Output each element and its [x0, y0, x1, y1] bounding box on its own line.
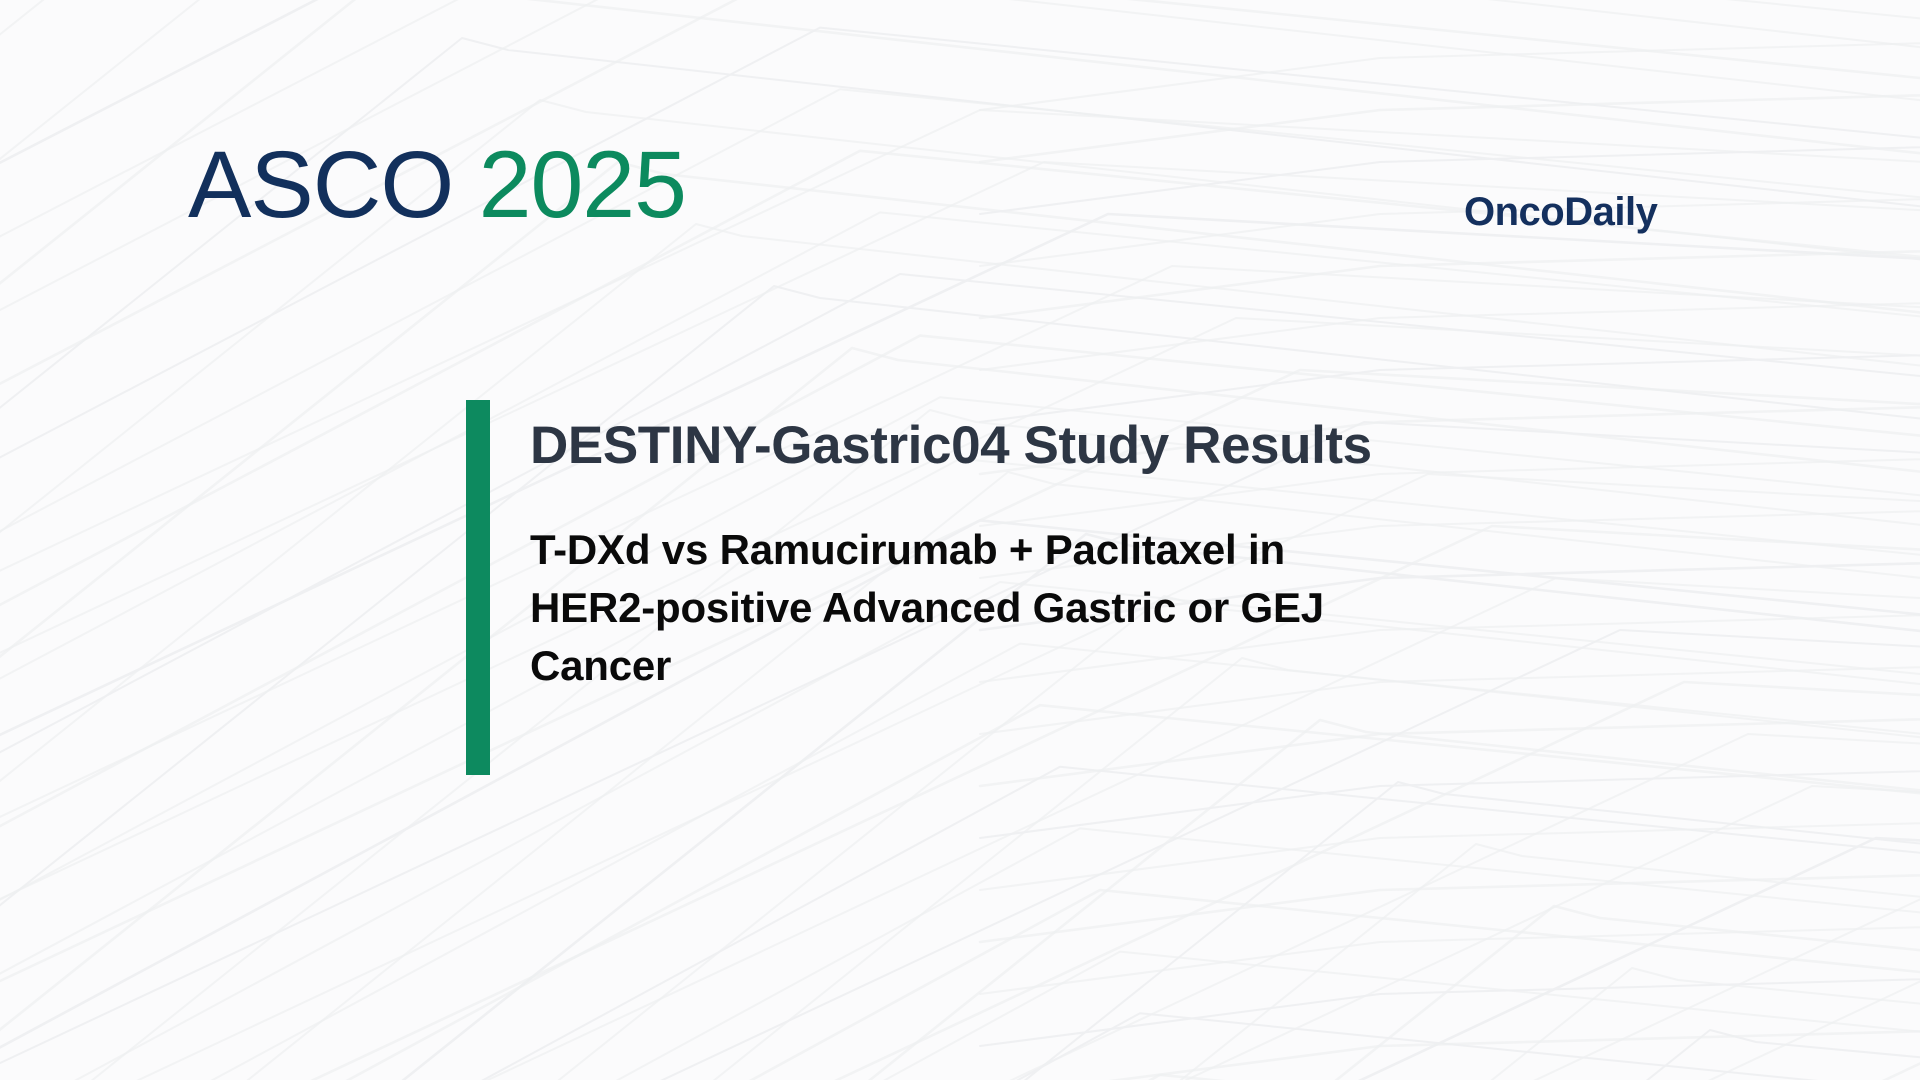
asco-organization-text: ASCO [188, 132, 453, 238]
oncodaily-logo: OncoDaily [1464, 192, 1657, 232]
asco-year-text: 2025 [479, 132, 686, 238]
green-accent-bar [466, 400, 490, 775]
subtitle-line-2: HER2-positive Advanced Gastric or GEJ [530, 579, 1372, 637]
subtitle-line-1: T-DXd vs Ramucirumab + Paclitaxel in [530, 521, 1372, 579]
study-title: DESTINY-Gastric04 Study Results [530, 416, 1372, 475]
study-subtitle: T-DXd vs Ramucirumab + Paclitaxel in HER… [530, 521, 1372, 695]
headline-text-group: DESTINY-Gastric04 Study Results T-DXd vs… [490, 400, 1372, 775]
slide-content: ASCO 2025 OncoDaily DESTINY-Gastric04 St… [0, 0, 1920, 1080]
subtitle-line-3: Cancer [530, 637, 1372, 695]
asco-event-logo: ASCO 2025 [188, 138, 686, 233]
headline-block: DESTINY-Gastric04 Study Results T-DXd vs… [466, 400, 1726, 775]
